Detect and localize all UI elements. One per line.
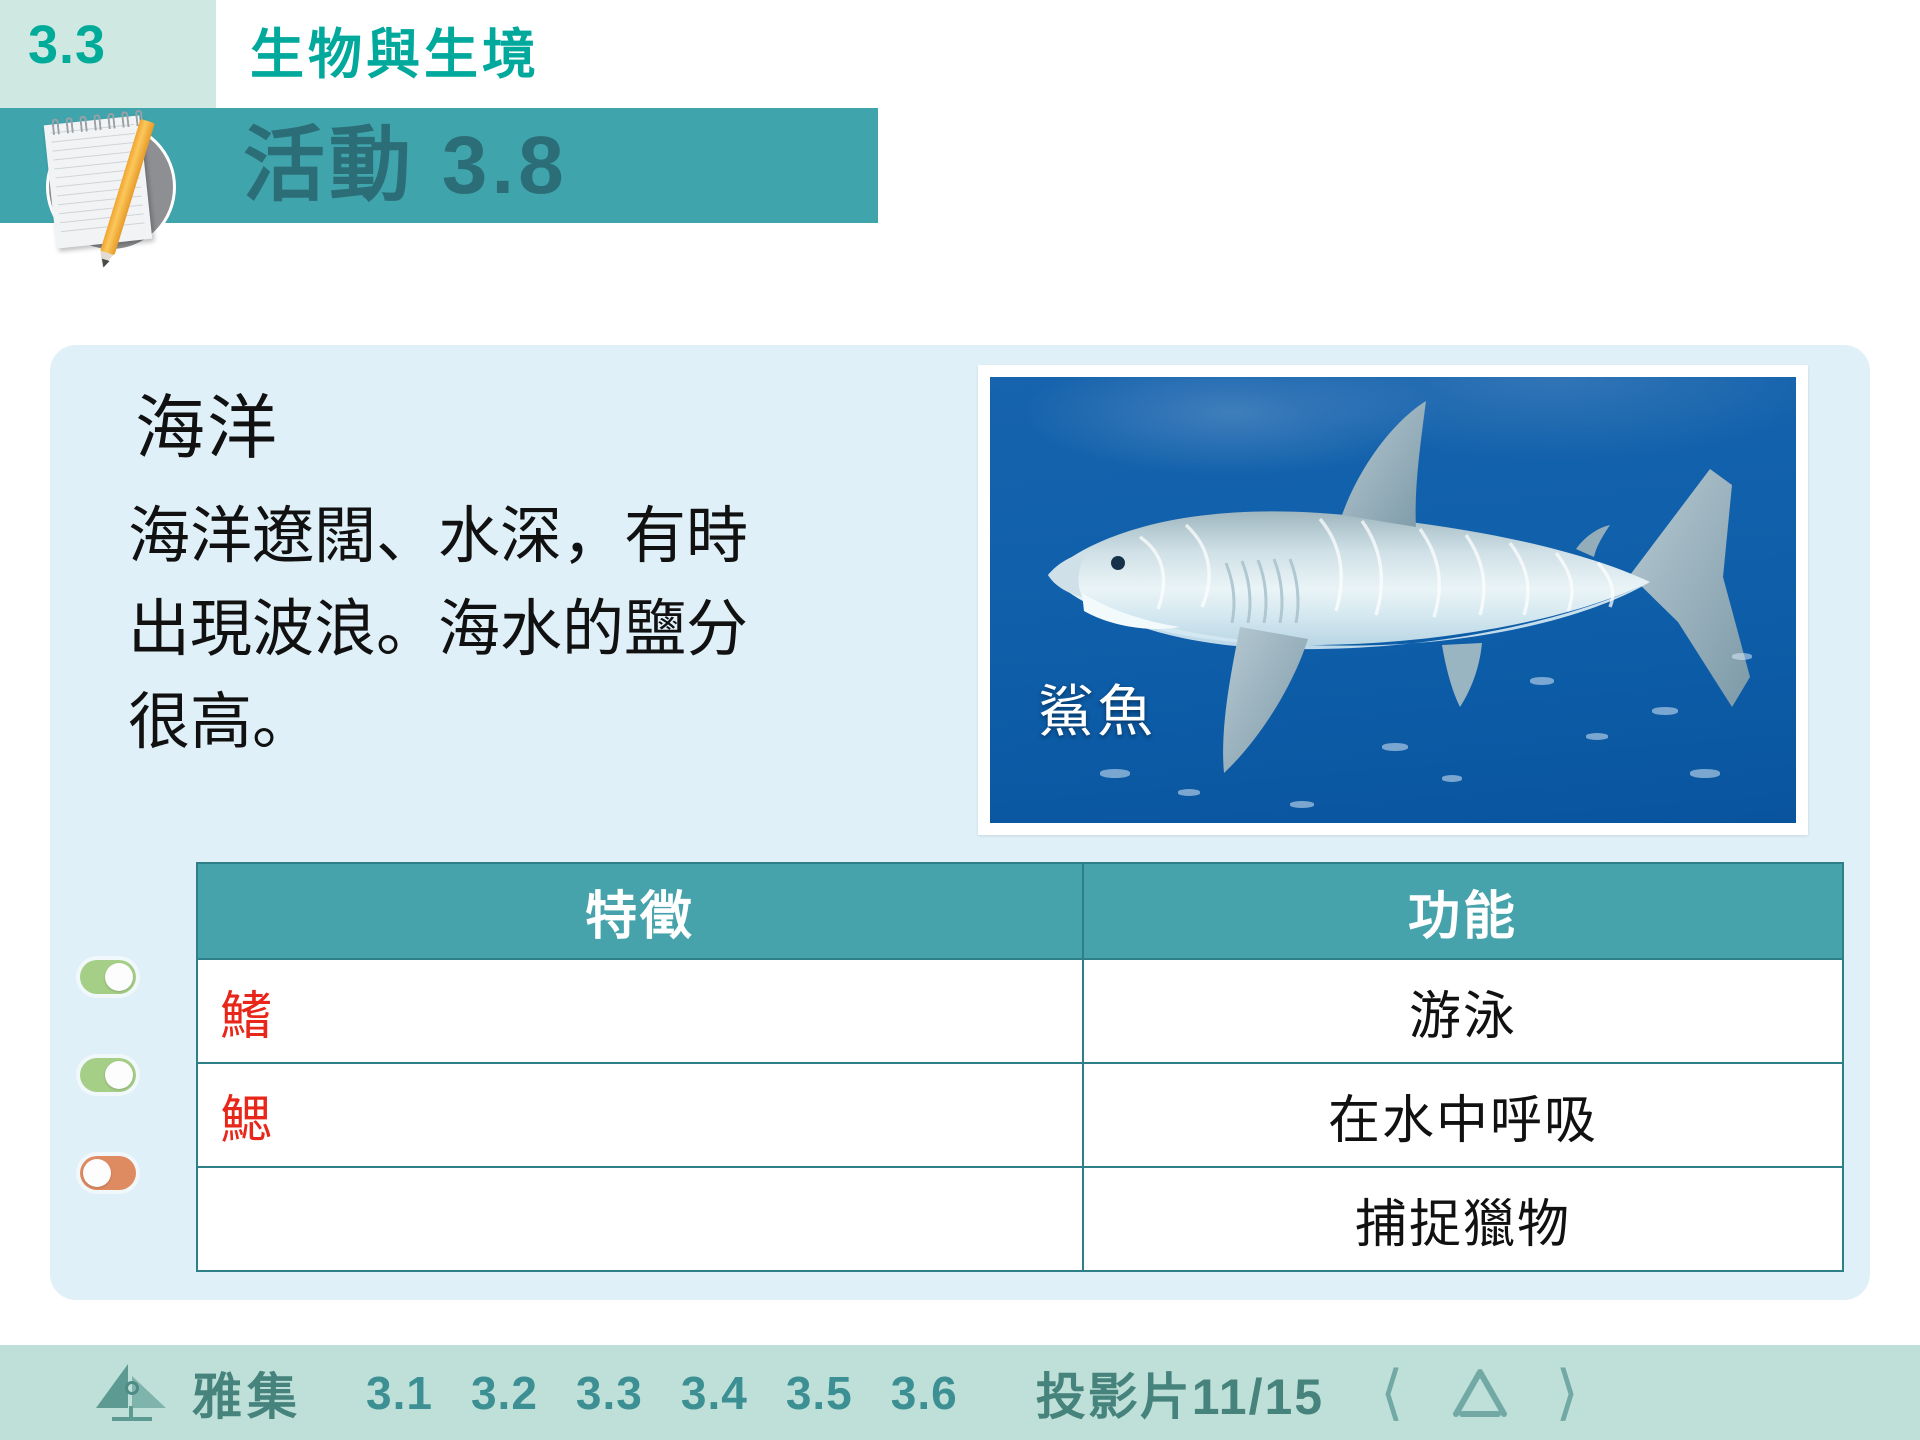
- section-number: 3.3: [28, 14, 106, 76]
- slide-counter: 投影片11/15: [1036, 1357, 1324, 1429]
- cell-feature-1[interactable]: 鰭: [197, 959, 1083, 1063]
- cell-feature-3[interactable]: [197, 1167, 1083, 1271]
- row-toggle-group: [80, 960, 136, 1254]
- toggle-knob: [105, 963, 133, 991]
- background-fish: [1652, 707, 1678, 715]
- features-functions-table: 特徵 功能 鰭 游泳 鰓 在水中呼吸 捕捉獵物: [196, 862, 1844, 1272]
- background-fish: [1178, 789, 1200, 796]
- activity-title: 活動 3.8: [243, 110, 568, 222]
- footer-section-3-3[interactable]: 3.3: [576, 1366, 643, 1420]
- table-row[interactable]: 鰭 游泳: [197, 959, 1843, 1063]
- background-fish: [1442, 775, 1462, 782]
- footer-bar: 雅集 3.1 3.2 3.3 3.4 3.5 3.6 投影片11/15 ⟨ ⟩: [0, 1345, 1920, 1440]
- footer-section-links: 3.1 3.2 3.3 3.4 3.5 3.6: [366, 1366, 958, 1420]
- footer-navigation: ⟨ ⟩: [1380, 1363, 1579, 1423]
- notepad-pencil-icon: [28, 104, 198, 254]
- table-header-row: 特徵 功能: [197, 863, 1843, 959]
- background-fish: [1382, 743, 1408, 751]
- row-toggle-3[interactable]: [80, 1156, 136, 1190]
- section-title: 生物與生境: [250, 10, 540, 89]
- shark-photo: 鯊魚: [990, 377, 1796, 823]
- footer-section-3-2[interactable]: 3.2: [471, 1366, 538, 1420]
- chevron-left-icon[interactable]: ⟨: [1380, 1363, 1403, 1423]
- slide-root: 3.3 生物與生境 活動 3.8 海洋 海洋遼闊、水深，有時出現波浪。海水的鹽分…: [0, 0, 1920, 1440]
- content-heading: 海洋: [135, 372, 279, 473]
- cell-function-3[interactable]: 捕捉獵物: [1083, 1167, 1843, 1271]
- row-toggle-2[interactable]: [80, 1058, 136, 1092]
- chevron-right-icon[interactable]: ⟩: [1556, 1363, 1579, 1423]
- footer-brand[interactable]: 雅集: [192, 1357, 302, 1429]
- content-paragraph: 海洋遼闊、水深，有時出現波浪。海水的鹽分很高。: [128, 490, 788, 769]
- table-row[interactable]: 鰓 在水中呼吸: [197, 1063, 1843, 1167]
- cell-function-2[interactable]: 在水中呼吸: [1083, 1063, 1843, 1167]
- background-fish: [1690, 769, 1720, 778]
- home-icon[interactable]: [1450, 1364, 1510, 1422]
- background-fish: [1732, 653, 1752, 660]
- cell-function-1[interactable]: 游泳: [1083, 959, 1843, 1063]
- top-bar: 3.3 生物與生境: [0, 0, 1882, 108]
- column-header-feature: 特徵: [197, 863, 1083, 959]
- shark-illustration: [990, 377, 1796, 823]
- background-fish: [1100, 769, 1130, 778]
- image-caption: 鯊魚: [1038, 667, 1156, 748]
- background-fish: [1586, 733, 1608, 740]
- background-fish: [1290, 801, 1314, 808]
- toggle-knob: [105, 1061, 133, 1089]
- sailboat-logo-icon[interactable]: [88, 1362, 174, 1424]
- footer-section-3-1[interactable]: 3.1: [366, 1366, 433, 1420]
- cell-feature-2[interactable]: 鰓: [197, 1063, 1083, 1167]
- table-row[interactable]: 捕捉獵物: [197, 1167, 1843, 1271]
- toggle-knob: [83, 1159, 111, 1187]
- shark-image-frame: 鯊魚: [978, 365, 1808, 835]
- footer-section-3-4[interactable]: 3.4: [681, 1366, 748, 1420]
- background-fish: [1530, 677, 1554, 685]
- footer-section-3-5[interactable]: 3.5: [786, 1366, 853, 1420]
- footer-section-3-6[interactable]: 3.6: [891, 1366, 958, 1420]
- row-toggle-1[interactable]: [80, 960, 136, 994]
- column-header-function: 功能: [1083, 863, 1843, 959]
